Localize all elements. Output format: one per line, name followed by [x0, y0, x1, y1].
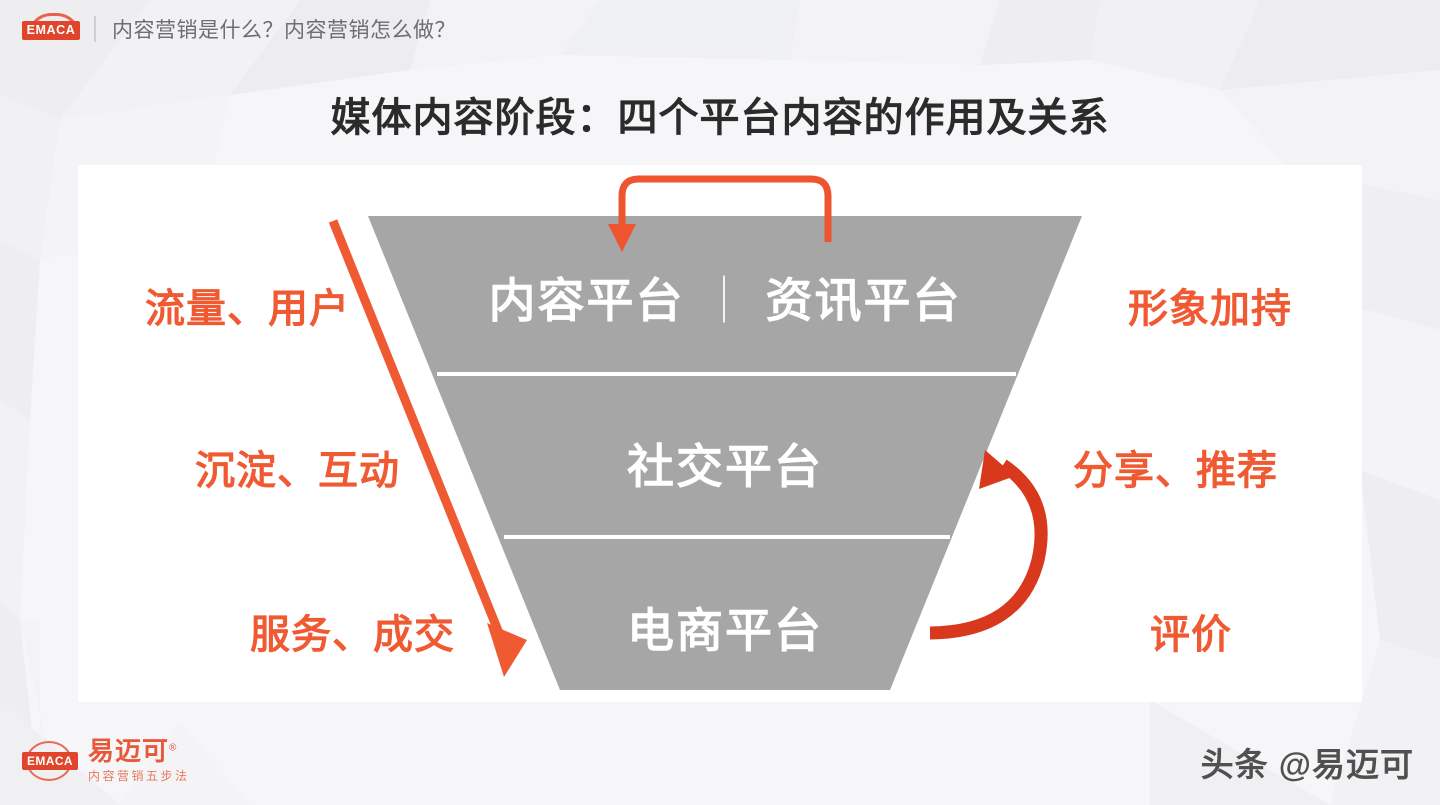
- footer-tagline: 内容营销五步法: [88, 767, 190, 784]
- page-title: 媒体内容阶段：四个平台内容的作用及关系: [0, 85, 1440, 143]
- header-logo-text: EMACA: [27, 24, 76, 37]
- left-label-retention-interaction: 沉淀、互动: [70, 438, 400, 496]
- footer-brand-mark: ®: [169, 742, 177, 753]
- watermark: 头条 @易迈可: [1201, 738, 1414, 786]
- footer-wordmark: 易迈可® 内容营销五步法: [88, 738, 190, 784]
- tier-top-separator: ｜: [685, 274, 766, 327]
- header-divider: [94, 16, 96, 42]
- funnel-tier-middle-label: 社交平台: [465, 428, 985, 497]
- emaca-badge-icon: EMACA: [22, 16, 80, 42]
- footer-brand: 易迈可®: [88, 738, 190, 765]
- right-label-share-recommend: 分享、推荐: [1073, 438, 1373, 496]
- left-label-traffic-users: 流量、用户: [20, 276, 350, 334]
- slide-canvas: EMACA 内容营销是什么？内容营销怎么做？ 媒体内容阶段：四个平台内容的作用及…: [0, 0, 1440, 805]
- footer-logo-text: EMACA: [27, 755, 73, 767]
- left-label-service-transaction: 服务、成交: [125, 602, 455, 660]
- footer-logo: EMACA 易迈可® 内容营销五步法: [22, 738, 190, 784]
- funnel-tier-bottom-label: 电商平台: [540, 592, 910, 661]
- footer-brand-text: 易迈可: [88, 736, 169, 766]
- header-bar: EMACA 内容营销是什么？内容营销怎么做？: [0, 0, 1440, 58]
- right-label-review: 评价: [1150, 602, 1440, 660]
- tier-top-label-left: 内容平台: [489, 274, 685, 327]
- header-subtitle: 内容营销是什么？内容营销怎么做？: [112, 14, 456, 44]
- funnel-tier-top-label: 内容平台｜资讯平台: [380, 262, 1070, 331]
- tier-top-label-right: 资讯平台: [766, 274, 962, 327]
- emaca-badge-icon-footer: EMACA: [22, 741, 78, 781]
- right-label-image-boost: 形象加持: [1128, 276, 1428, 334]
